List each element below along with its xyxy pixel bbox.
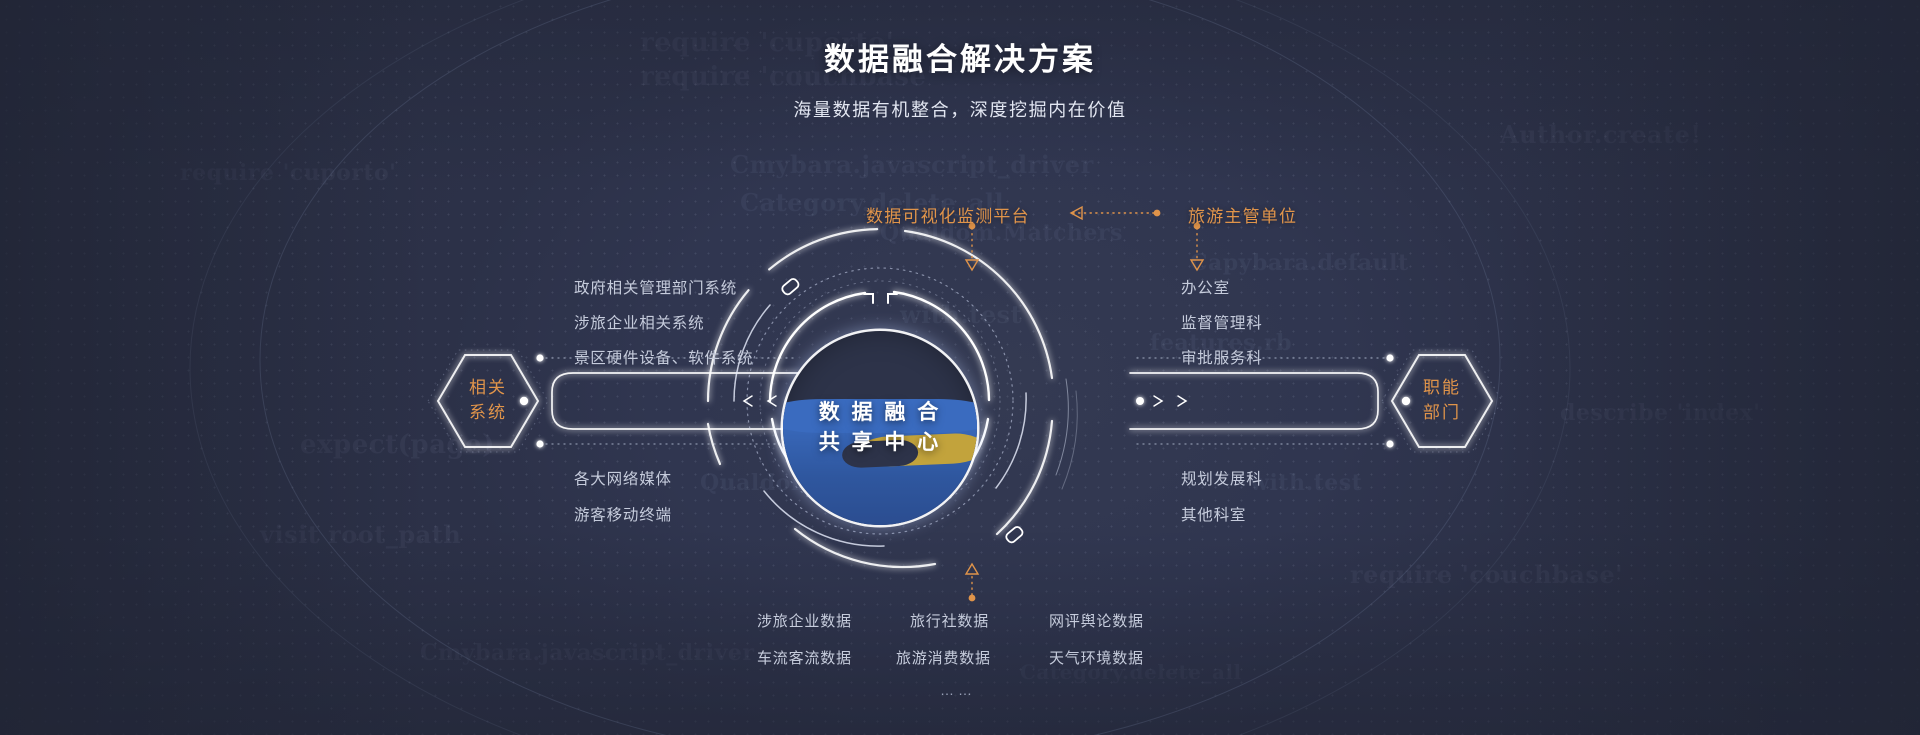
- bottom-ellipsis: ……: [940, 682, 976, 698]
- bottom-item-2[interactable]: 网评舆论数据: [1049, 610, 1144, 631]
- left-upper-item-0[interactable]: 政府相关管理部门系统: [574, 276, 737, 298]
- left-upper-item-1[interactable]: 涉旅企业相关系统: [574, 311, 704, 333]
- page-subtitle: 海量数据有机整合，深度挖掘内在价值: [0, 96, 1920, 122]
- left-lower-item-1[interactable]: 游客移动终端: [574, 503, 672, 525]
- bottom-item-5[interactable]: 天气环境数据: [1049, 647, 1144, 668]
- bottom-item-4[interactable]: 旅游消费数据: [896, 647, 991, 668]
- node-platform-label[interactable]: 数据可视化监测平台: [866, 202, 1030, 227]
- left-hexagon-line2: 系统: [469, 401, 507, 426]
- right-lower-item-0[interactable]: 规划发展科: [1181, 467, 1263, 489]
- left-hexagon-text: 相关 系统: [426, 331, 550, 471]
- left-hexagon[interactable]: 相关 系统: [426, 331, 550, 471]
- bottom-item-0[interactable]: 涉旅企业数据: [757, 610, 852, 631]
- left-upper-item-2[interactable]: 景区硬件设备、软件系统: [574, 346, 753, 368]
- right-lower-item-1[interactable]: 其他科室: [1181, 503, 1246, 525]
- node-authority-label[interactable]: 旅游主管单位: [1188, 202, 1297, 227]
- left-hexagon-line1: 相关: [469, 376, 507, 401]
- page-title: 数据融合解决方案: [0, 34, 1920, 79]
- right-upper-item-0[interactable]: 办公室: [1181, 276, 1230, 298]
- right-hexagon-text: 职能 部门: [1380, 331, 1504, 471]
- right-upper-item-1[interactable]: 监督管理科: [1181, 311, 1263, 333]
- header: 数据融合解决方案 海量数据有机整合，深度挖掘内在价值: [0, 34, 1920, 122]
- right-hexagon-line1: 职能: [1423, 376, 1461, 401]
- left-lower-item-0[interactable]: 各大网络媒体: [574, 467, 672, 489]
- right-upper-item-2[interactable]: 审批服务科: [1181, 346, 1263, 368]
- right-hexagon-line2: 部门: [1423, 401, 1461, 426]
- bottom-item-3[interactable]: 车流客流数据: [757, 647, 852, 668]
- right-hexagon[interactable]: 职能 部门: [1380, 331, 1504, 471]
- bottom-item-1[interactable]: 旅行社数据: [910, 610, 989, 631]
